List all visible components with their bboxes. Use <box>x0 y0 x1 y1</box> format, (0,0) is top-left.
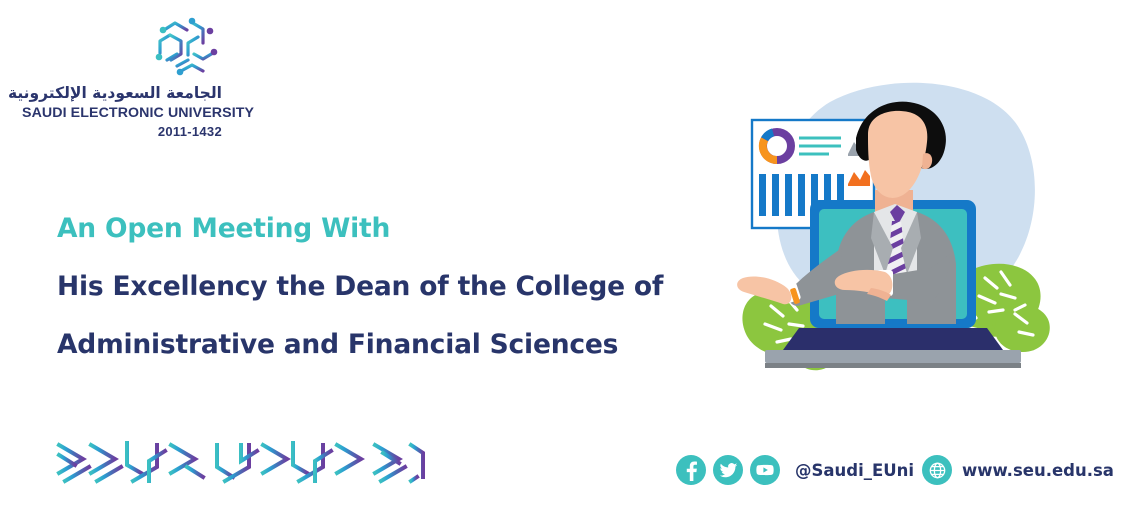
brand-name-arabic: الجامعة السعودية الإلكترونية <box>22 86 222 102</box>
headline-line-1: An Open Meeting With <box>57 200 697 258</box>
headline-line-2: His Excellency the Dean of the College o… <box>57 258 697 316</box>
headline-line-3: Administrative and Financial Sciences <box>57 316 697 374</box>
seu-hexagon-circuit-logo <box>147 10 227 82</box>
brand-name-english: SAUDI ELECTRONIC UNIVERSITY <box>22 106 222 121</box>
circuit-band-decoration <box>45 437 440 489</box>
twitter-icon[interactable] <box>713 455 743 485</box>
facebook-icon[interactable] <box>676 455 706 485</box>
headline: An Open Meeting With His Excellency the … <box>57 200 697 374</box>
illustration-man-presenting-from-laptop <box>735 62 1055 392</box>
website-link[interactable]: www.seu.edu.sa <box>922 450 1114 490</box>
website-text[interactable]: www.seu.edu.sa <box>962 461 1114 480</box>
brand-logo: الجامعة السعودية الإلكترونية SAUDI ELECT… <box>22 6 222 141</box>
youtube-icon[interactable] <box>750 455 780 485</box>
globe-icon[interactable] <box>922 455 952 485</box>
brand-year: 2011-1432 <box>22 124 222 139</box>
social-links: @Saudi_EUni <box>676 450 914 490</box>
social-handle[interactable]: @Saudi_EUni <box>795 461 914 480</box>
